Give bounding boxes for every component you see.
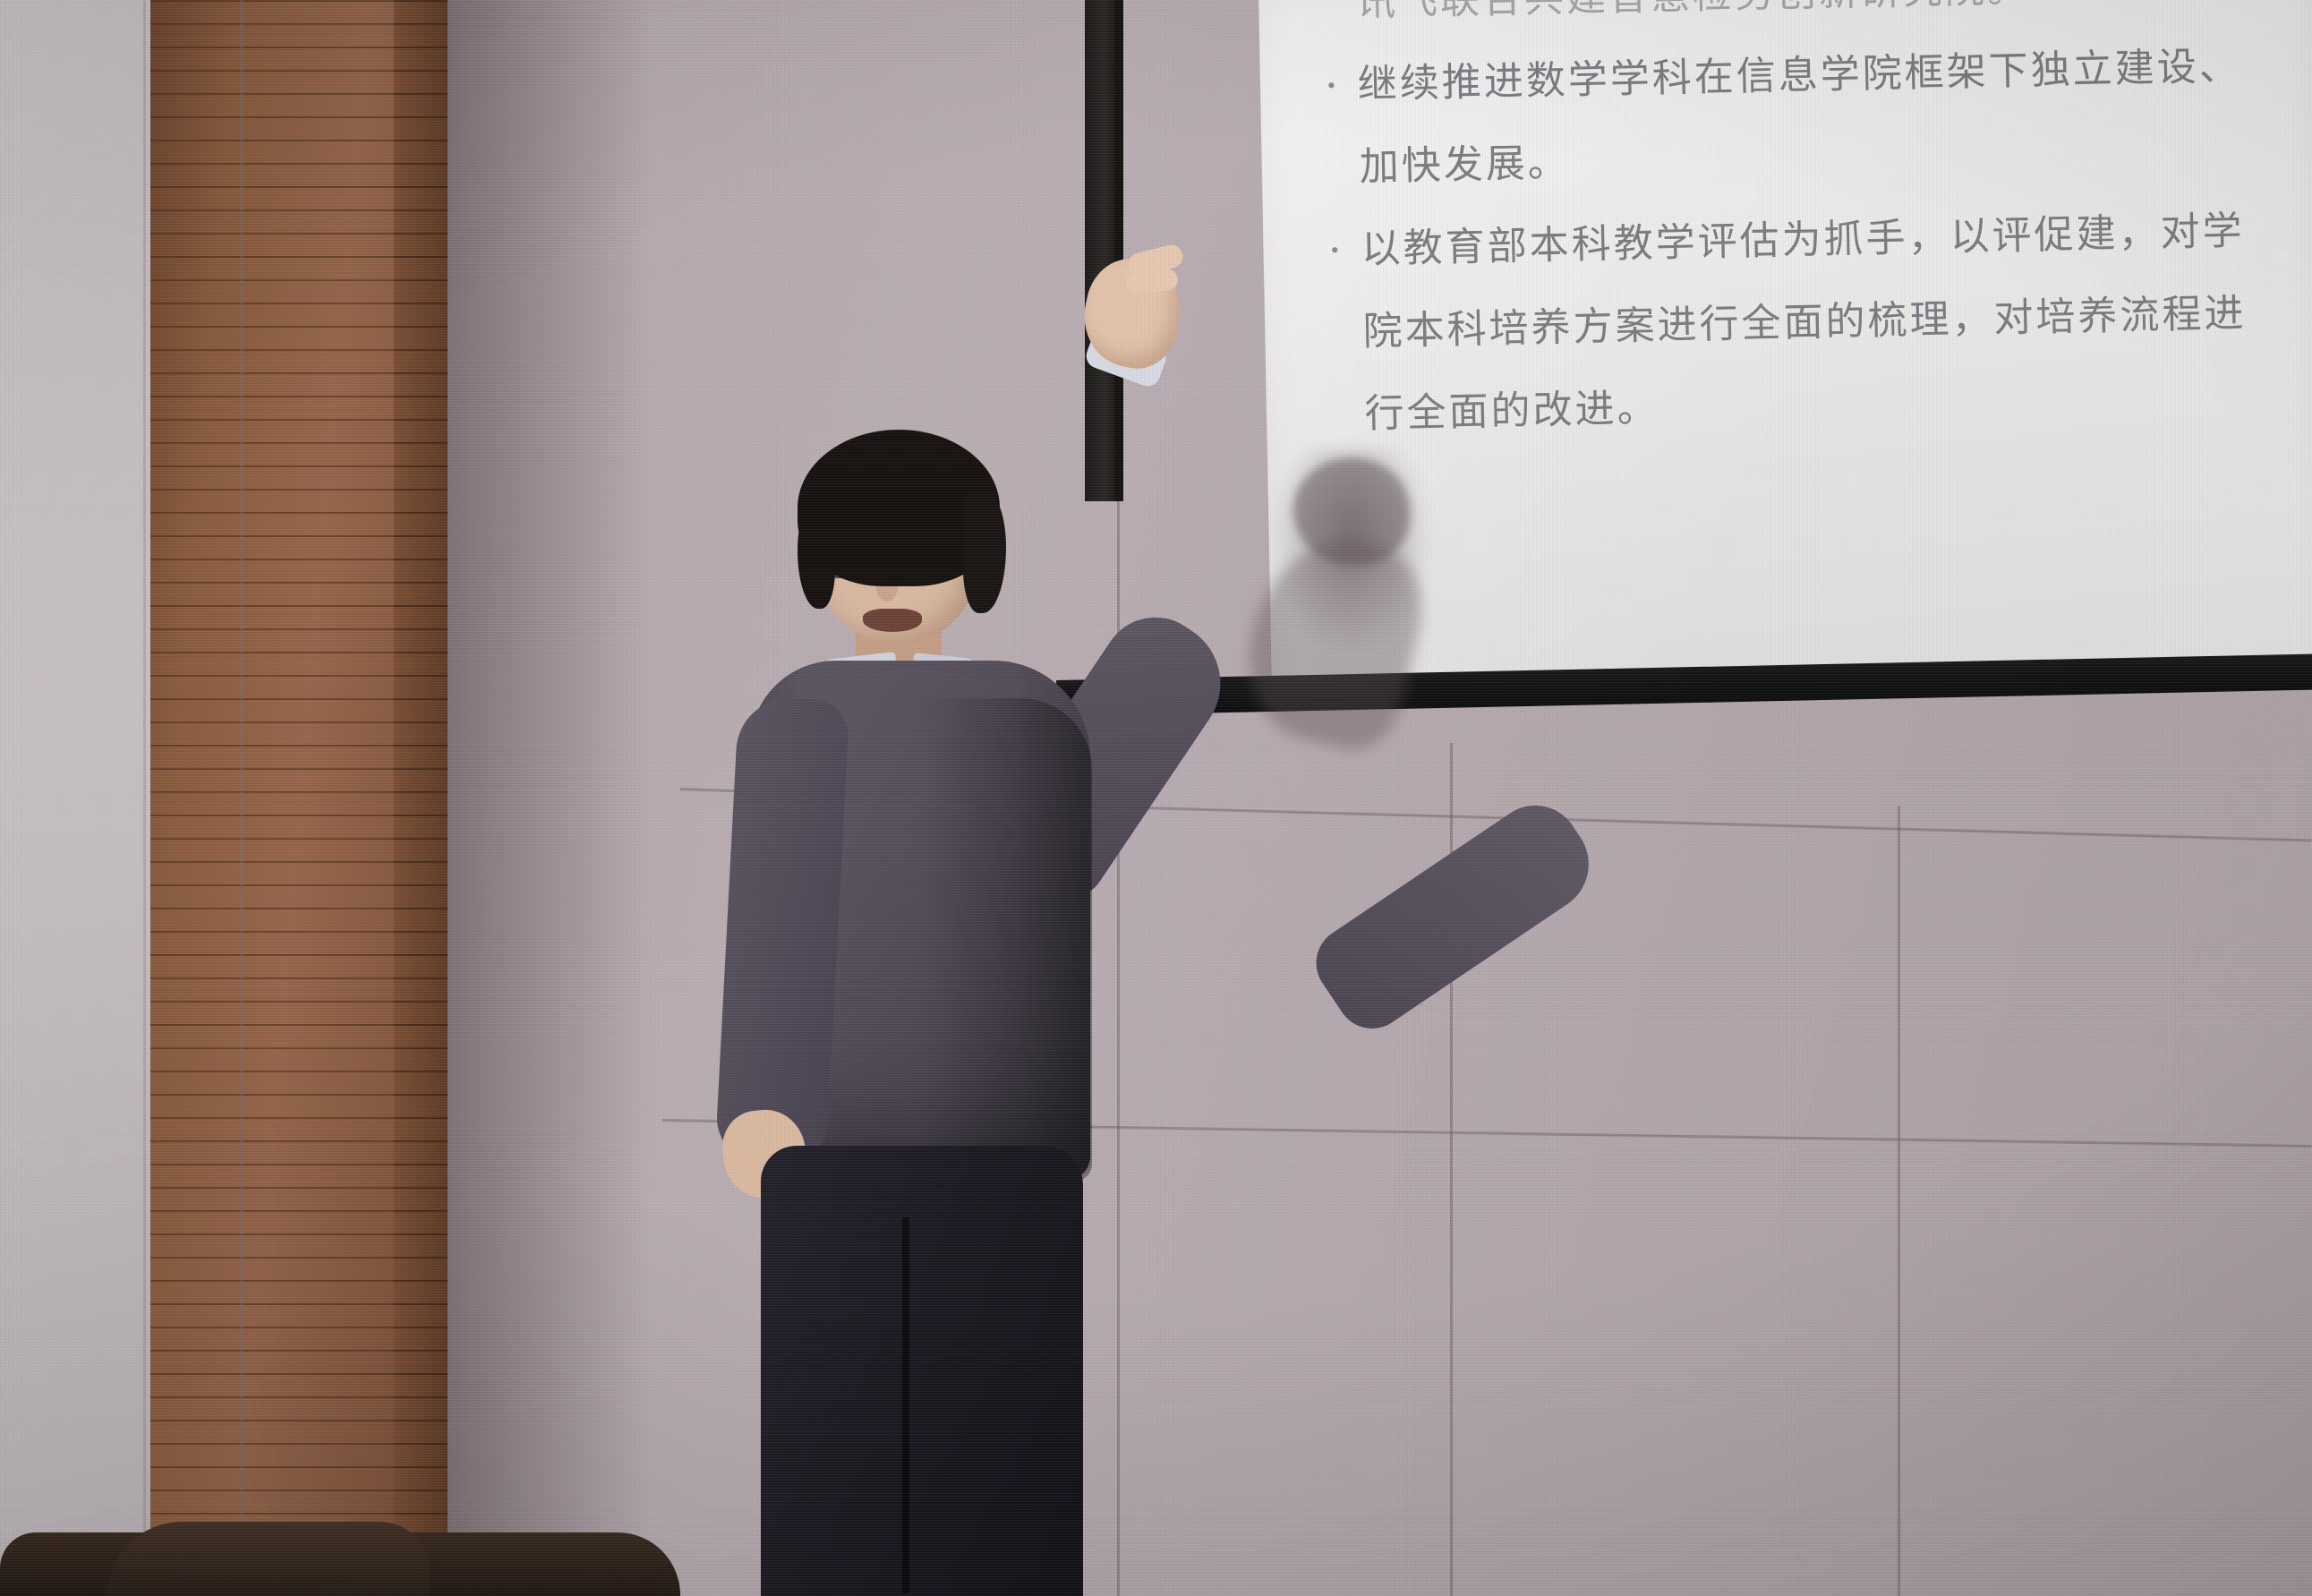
presenter-hair-side-right bbox=[963, 492, 1006, 613]
brick-column-edge-highlight bbox=[240, 0, 243, 1596]
slide-line-text: 行全面的改进。 bbox=[1364, 367, 1660, 456]
presenter-trousers bbox=[761, 1146, 1083, 1596]
presenter-hair-side-left bbox=[798, 501, 835, 609]
photo-scene: 讯飞联合共建智慧检务创新研究院。 • 继续推进数学学科在信息学院框架下独立建设、… bbox=[0, 0, 2312, 1596]
slide-bullet-icon: • bbox=[1327, 44, 1359, 127]
presenter-trouser-seam bbox=[902, 1217, 909, 1593]
left-wall-seam bbox=[143, 0, 146, 1596]
presenter-mouth bbox=[863, 609, 922, 632]
presenter bbox=[680, 430, 1271, 1596]
slide-text-block: 讯飞联合共建智慧检务创新研究院。 • 继续推进数学学科在信息学院框架下独立建设、… bbox=[1325, 0, 2312, 457]
slide-line-indent bbox=[1334, 373, 1364, 374]
brick-column bbox=[150, 0, 410, 1596]
slide-line-indent bbox=[1328, 126, 1359, 127]
wall-shadow bbox=[446, 0, 652, 1596]
door-frame-stripe-inner bbox=[1114, 0, 1123, 501]
slide-line-indent bbox=[1332, 291, 1362, 292]
slide-line-text: 加快发展。 bbox=[1359, 122, 1571, 209]
door-frame-stripe bbox=[1085, 0, 1117, 501]
wall-panel-seam-vertical-3 bbox=[1898, 806, 1900, 1596]
foreground-furniture-secondary bbox=[107, 1522, 430, 1596]
brick-column-side-face bbox=[394, 0, 448, 1596]
slide-bullet-icon: • bbox=[1330, 209, 1362, 292]
presenter-sweater-shading bbox=[922, 698, 1092, 1182]
